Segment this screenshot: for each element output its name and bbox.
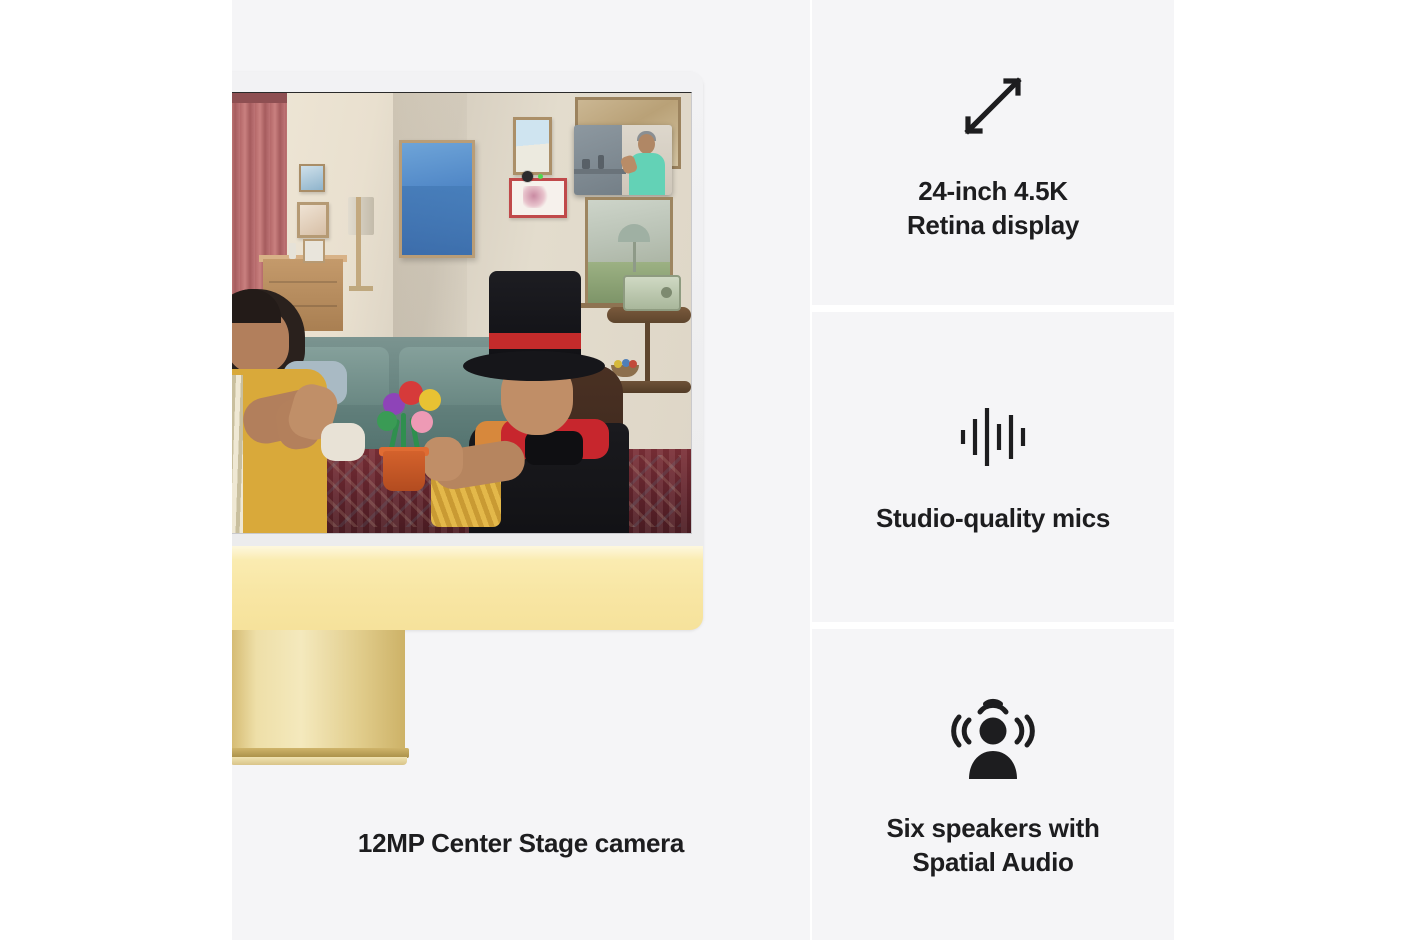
spatial-audio-person-icon: [947, 690, 1039, 782]
feature-card-speakers-label: Six speakers with Spatial Audio: [886, 812, 1099, 879]
feature-card-speakers[interactable]: Six speakers with Spatial Audio: [812, 629, 1174, 940]
feature-label-line-2: Retina display: [907, 209, 1079, 242]
imac-stand-foot: [232, 757, 407, 765]
hero-caption: 12MP Center Stage camera: [232, 828, 810, 859]
girl-top-hat-band: [489, 333, 581, 349]
mirror-lamp-stem: [633, 242, 636, 272]
woman-foot: [321, 423, 365, 461]
woman-shirt-stripe-left: [232, 375, 243, 533]
pip-object-2: [598, 155, 604, 169]
girl-top-hat-brim: [463, 351, 605, 381]
feature-label-line-1: Six speakers with: [886, 812, 1099, 845]
scene-floor-lamp-base: [349, 286, 373, 291]
mirror-lamp-shade: [618, 224, 650, 242]
scene-photo-frame: [303, 239, 325, 263]
flower-yellow: [419, 389, 441, 411]
audio-waveform-icon: [954, 398, 1032, 476]
imac-body: [232, 72, 703, 630]
feature-card-mics-label: Studio-quality mics: [876, 502, 1110, 535]
feature-card-list: 24-inch 4.5K Retina display: [812, 0, 1174, 940]
flower-green: [377, 411, 397, 431]
scene-blue-painting: [399, 140, 475, 258]
scene-floor-lamp-stand: [356, 197, 361, 289]
scene-side-table-lower: [611, 381, 691, 393]
pip-object-1: [582, 159, 590, 169]
scene-radio: [623, 275, 681, 311]
flower-pink: [411, 411, 433, 433]
scene-framed-art-2: [297, 202, 329, 238]
scene-side-table-leg: [645, 321, 650, 383]
product-feature-page: 12MP Center Stage camera 24-inch 4.5K Re…: [0, 0, 1406, 940]
feature-card-display-label: 24-inch 4.5K Retina display: [907, 175, 1079, 242]
feature-label-line-1: 24-inch 4.5K: [907, 175, 1079, 208]
feature-card-display[interactable]: 24-inch 4.5K Retina display: [812, 0, 1174, 305]
scene-framed-art-1: [299, 164, 325, 192]
girl-top-hat-crown: [489, 271, 581, 363]
feature-card-mics[interactable]: Studio-quality mics: [812, 312, 1174, 622]
flower-pot: [383, 451, 425, 491]
camera-lens-icon: [522, 171, 533, 182]
imac-hero-panel: 12MP Center Stage camera: [232, 0, 810, 940]
radio-dial: [661, 287, 672, 298]
diagonal-resize-arrows-icon: [950, 63, 1036, 149]
fruit-3: [629, 360, 637, 368]
imac-stand-neck: [232, 630, 405, 750]
feature-label-line-2: Spatial Audio: [886, 846, 1099, 879]
scene-floor-lamp-shade: [348, 197, 374, 235]
scene-vase: [289, 243, 296, 259]
fruit-1: [614, 360, 622, 368]
scene-framed-art-3: [513, 117, 552, 175]
pip-shelf: [574, 169, 626, 174]
imac-screen: [232, 92, 692, 534]
imac-device: [232, 72, 710, 762]
girl-cape-collar-inner: [525, 431, 583, 465]
camera-indicator-led: [538, 174, 543, 179]
girl-hand: [423, 437, 463, 481]
scene-curtain-rod: [232, 93, 287, 103]
video-call-pip-window: [574, 125, 672, 195]
chin-sheen: [232, 546, 703, 560]
feature-label-line-1: Studio-quality mics: [876, 502, 1110, 535]
pip-person-head: [638, 134, 655, 154]
scene-dresser-line-1: [269, 281, 337, 283]
scene-framed-art-4: [509, 178, 567, 218]
imac-chin: [232, 546, 703, 630]
